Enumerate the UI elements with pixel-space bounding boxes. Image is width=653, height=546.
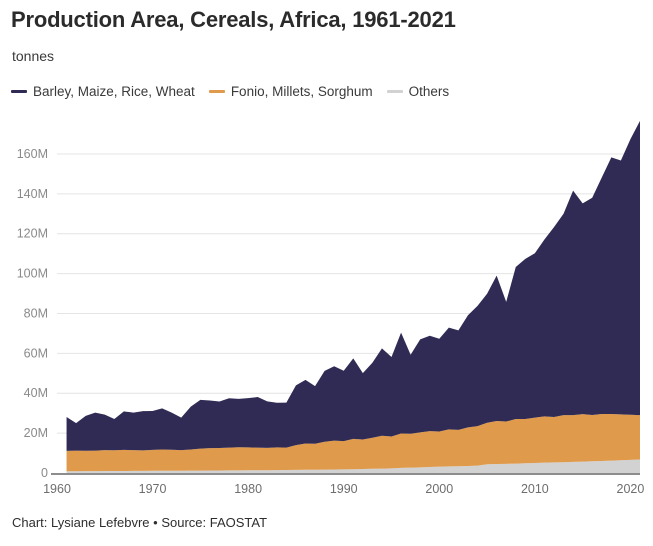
legend-swatch-major — [11, 90, 27, 93]
chart-page: Production Area, Cereals, Africa, 1961-2… — [0, 0, 653, 546]
legend-item-minor[interactable]: Fonio, Millets, Sorghum — [209, 84, 373, 99]
y-tick-label: 20M — [24, 426, 48, 440]
y-tick-label: 40M — [24, 386, 48, 400]
legend-label-others: Others — [409, 84, 450, 99]
y-tick-label: 0 — [41, 466, 48, 480]
chart-footer: Chart: Lysiane Lefebvre • Source: FAOSTA… — [12, 515, 267, 530]
legend-item-major[interactable]: Barley, Maize, Rice, Wheat — [11, 84, 195, 99]
legend-swatch-minor — [209, 90, 225, 93]
y-tick-label: 120M — [17, 227, 48, 241]
x-tick-label: 2000 — [425, 482, 453, 496]
page-title: Production Area, Cereals, Africa, 1961-2… — [11, 7, 456, 33]
x-tick-label: 1990 — [330, 482, 358, 496]
legend-swatch-others — [387, 90, 403, 93]
chart-subtitle: tonnes — [12, 48, 54, 64]
area-chart-svg[interactable]: 020M40M60M80M100M120M140M160M 1960197019… — [0, 104, 653, 498]
series-area — [67, 121, 640, 451]
legend-item-others[interactable]: Others — [387, 84, 450, 99]
series-areas-group — [67, 121, 640, 473]
x-tick-label: 1970 — [139, 482, 167, 496]
x-tick-label: 1960 — [43, 482, 71, 496]
y-tick-label: 160M — [17, 147, 48, 161]
y-tick-label: 80M — [24, 306, 48, 320]
y-axis-ticks: 020M40M60M80M100M120M140M160M — [17, 147, 48, 480]
x-tick-label: 2010 — [521, 482, 549, 496]
y-tick-label: 140M — [17, 187, 48, 201]
x-tick-label: 1980 — [234, 482, 262, 496]
chart-legend: Barley, Maize, Rice, Wheat Fonio, Millet… — [11, 84, 449, 99]
legend-label-minor: Fonio, Millets, Sorghum — [231, 84, 373, 99]
x-axis-ticks: 1960197019801990200020102020 — [43, 482, 644, 496]
y-tick-label: 60M — [24, 346, 48, 360]
x-tick-label: 2020 — [617, 482, 645, 496]
y-tick-label: 100M — [17, 267, 48, 281]
plot-area[interactable]: 020M40M60M80M100M120M140M160M 1960197019… — [0, 104, 653, 498]
legend-label-major: Barley, Maize, Rice, Wheat — [33, 84, 195, 99]
